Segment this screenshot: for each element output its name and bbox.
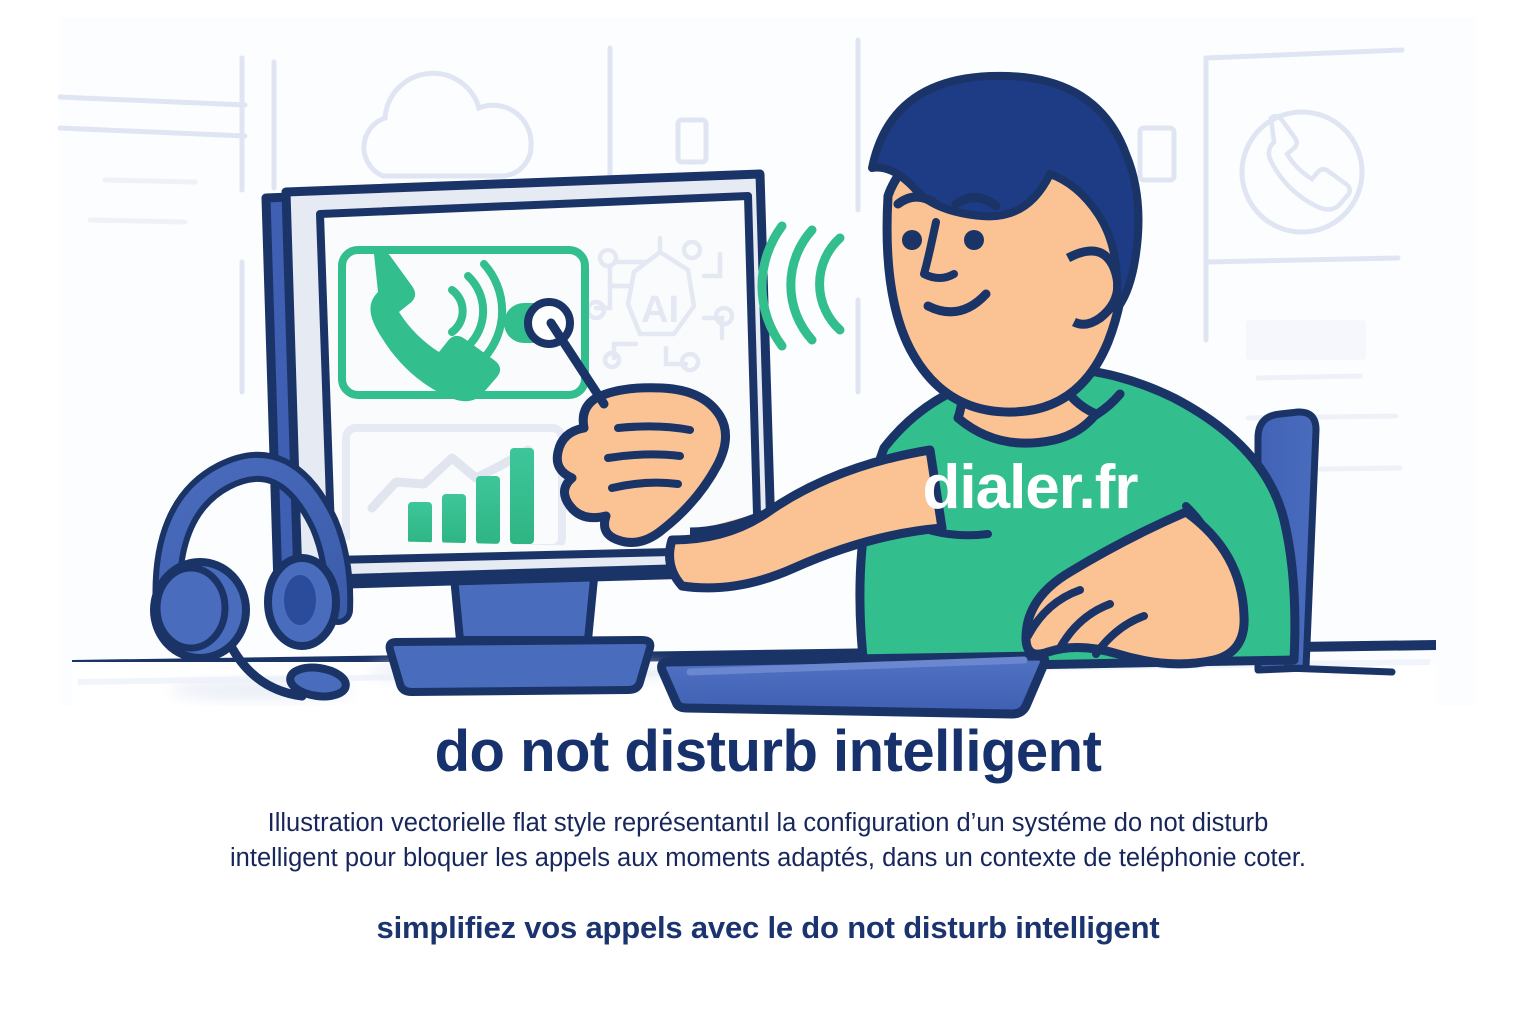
finger-line bbox=[618, 426, 690, 430]
eye-left bbox=[902, 230, 922, 250]
page-description: Illustration vectorielle flat style repr… bbox=[0, 806, 1536, 876]
chart-bar bbox=[476, 476, 500, 544]
chart-bar bbox=[442, 494, 466, 544]
description-line-1: Illustration vectorielle flat style repr… bbox=[0, 806, 1536, 841]
earcup-far-pad bbox=[284, 575, 316, 625]
keyboard bbox=[662, 656, 1045, 714]
chart-bar bbox=[408, 502, 432, 544]
monitor-base bbox=[390, 640, 651, 692]
finger-line bbox=[608, 454, 680, 458]
shelf-line bbox=[1258, 376, 1360, 378]
ai-chip-label: AI bbox=[641, 289, 679, 331]
description-line-2: intelligent pour bloquer les appels aux … bbox=[0, 841, 1536, 876]
illustration-card: AI bbox=[0, 0, 1536, 1024]
shelf-line bbox=[90, 220, 185, 222]
shelf-block bbox=[1246, 320, 1366, 360]
chart-bar bbox=[510, 448, 534, 544]
eye-right bbox=[964, 230, 984, 250]
shirt-logo: dialer.fr bbox=[923, 453, 1139, 522]
earcup-near-pad bbox=[157, 568, 225, 648]
page-tagline: simplifiez vos appels avec le do not dis… bbox=[0, 910, 1536, 946]
page-title: do not disturb intelligent bbox=[0, 722, 1536, 783]
shelf-line bbox=[105, 180, 195, 182]
ear bbox=[1068, 251, 1118, 324]
